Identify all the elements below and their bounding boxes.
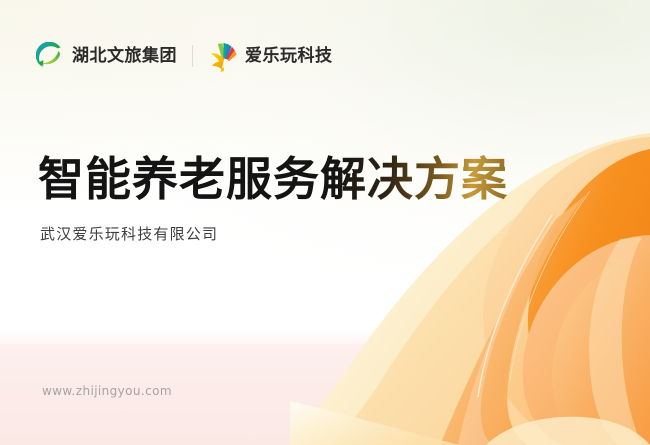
title-slide: 湖北文旅集团 bbox=[0, 0, 650, 445]
company-logo-text: 爱乐玩科技 bbox=[245, 48, 333, 65]
ailewan-bird-logo-icon bbox=[208, 40, 238, 72]
partner-logo-text: 湖北文旅集团 bbox=[72, 48, 177, 65]
footer-website-url: www.zhijingyou.com bbox=[42, 384, 172, 398]
page-subtitle: 武汉爱乐玩科技有限公司 bbox=[40, 223, 508, 244]
logo-bar: 湖北文旅集团 bbox=[36, 36, 333, 76]
title-block: 智能养老服务解决方案 武汉爱乐玩科技有限公司 bbox=[38, 154, 508, 244]
hubei-culture-tourism-swoosh-logo-icon bbox=[36, 42, 65, 71]
company-logo: 爱乐玩科技 bbox=[208, 40, 333, 72]
partner-logo: 湖北文旅集团 bbox=[36, 42, 177, 71]
logo-divider bbox=[192, 45, 193, 67]
page-title: 智能养老服务解决方案 bbox=[38, 154, 508, 205]
